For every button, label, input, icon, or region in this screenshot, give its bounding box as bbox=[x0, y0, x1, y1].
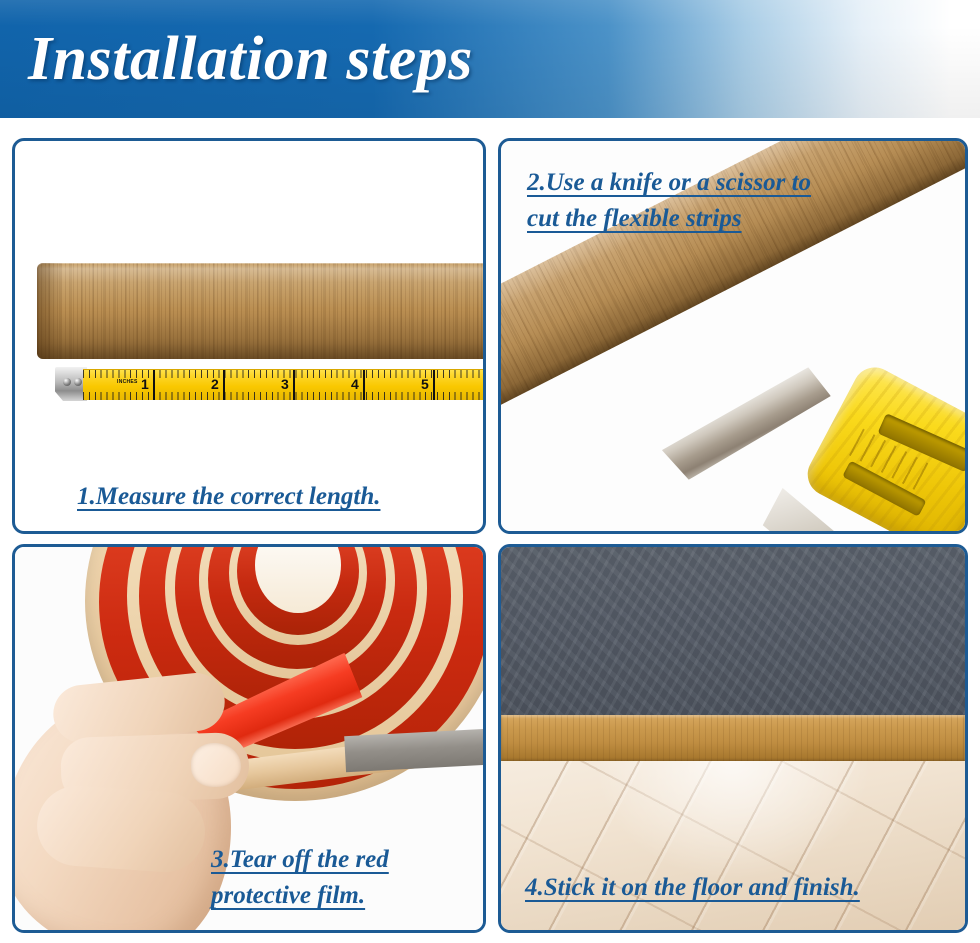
floor-light-reflection bbox=[594, 761, 872, 881]
step-2-caption: 2.Use a knife or a scissor to cut the fl… bbox=[527, 165, 907, 237]
step-panel-4[interactable]: 4.Stick it on the floor and finish. bbox=[498, 544, 968, 933]
step-3-caption-line-1: 3.Tear off the red bbox=[211, 846, 389, 873]
step-1-caption: 1.Measure the correct length. bbox=[77, 479, 380, 515]
tape-major-tick bbox=[363, 370, 365, 400]
tape-mark-2: 2 bbox=[211, 377, 219, 391]
header-banner: Installation steps bbox=[0, 0, 980, 118]
tape-major-tick bbox=[293, 370, 295, 400]
step-2-caption-line-2: cut the flexible strips bbox=[527, 205, 742, 232]
step-4-caption: 4.Stick it on the floor and finish. bbox=[525, 870, 860, 906]
installed-trim-strip bbox=[501, 715, 965, 763]
utility-knife-handle bbox=[800, 360, 965, 531]
rivet-icon bbox=[74, 378, 82, 386]
tape-body: INCHES 1 2 3 4 5 6 bbox=[83, 369, 483, 400]
step-panel-1[interactable]: INCHES 1 2 3 4 5 6 bbox=[12, 138, 486, 534]
tape-measure: INCHES 1 2 3 4 5 6 bbox=[55, 369, 483, 399]
wood-trim-strip bbox=[37, 263, 483, 359]
step-panel-3[interactable]: 3.Tear off the red protective film. bbox=[12, 544, 486, 933]
step-panel-2[interactable]: 2.Use a knife or a scissor to cut the fl… bbox=[498, 138, 968, 534]
step-1-illustration: INCHES 1 2 3 4 5 6 bbox=[15, 141, 483, 531]
step-3-caption-line-2: protective film. bbox=[211, 882, 365, 909]
page-title: Installation steps bbox=[28, 20, 473, 98]
finger-lower bbox=[34, 783, 207, 875]
tape-major-tick bbox=[433, 370, 435, 400]
installation-steps-infographic: Installation steps INCHES bbox=[0, 0, 980, 943]
tape-mark-1: 1 bbox=[141, 377, 149, 391]
tape-major-tick bbox=[223, 370, 225, 400]
tape-mark-5: 5 bbox=[421, 377, 429, 391]
tape-unit-label: INCHES bbox=[117, 380, 138, 385]
tape-mark-4: 4 bbox=[351, 377, 359, 391]
gray-wall bbox=[501, 547, 965, 717]
steps-grid: INCHES 1 2 3 4 5 6 bbox=[12, 138, 968, 933]
thumbnail bbox=[191, 743, 241, 787]
tape-mark-3: 3 bbox=[281, 377, 289, 391]
tape-major-tick bbox=[153, 370, 155, 400]
step-3-caption: 3.Tear off the red protective film. bbox=[211, 842, 461, 914]
rivet-icon bbox=[63, 378, 71, 386]
step-2-caption-line-1: 2.Use a knife or a scissor to bbox=[527, 169, 811, 196]
